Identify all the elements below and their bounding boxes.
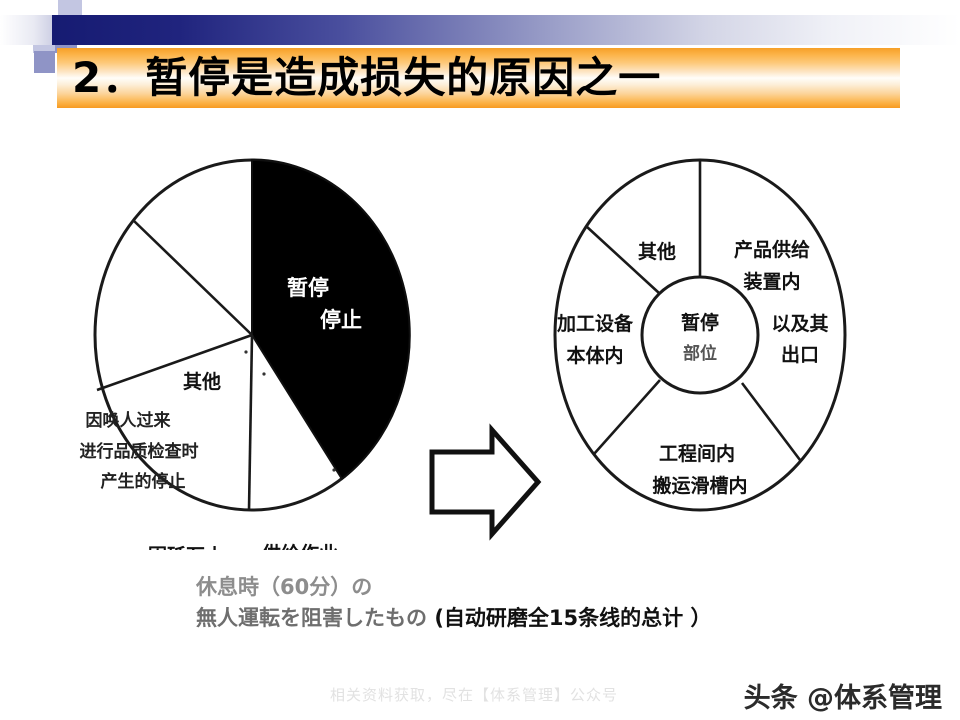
page-title: 2．暂停是造成损失的原因之一 [72, 52, 902, 104]
right-donut-hub [642, 277, 758, 393]
left-pie-label-other: 其他 [183, 370, 221, 393]
svg-text:工程间内: 工程间内 [659, 442, 735, 465]
svg-text:出口: 出口 [781, 343, 819, 366]
svg-text:搬运滑槽内: 搬运滑槽内 [652, 474, 747, 497]
caption-line-2-solid: (自动研磨全15条线的总计 ） [434, 606, 711, 630]
caption-line-1: 休息時（60分）の [196, 575, 372, 599]
svg-text:产品供给: 产品供给 [734, 238, 810, 261]
svg-text:停止: 停止 [320, 308, 362, 332]
svg-text:部位: 部位 [683, 343, 717, 364]
svg-text:暂停: 暂停 [681, 311, 719, 334]
footer-brand: 头条 @体系管理 [744, 676, 942, 715]
topbar-left-fade [0, 15, 56, 45]
topbar-gradient [52, 15, 960, 45]
svg-text:因唤人过来: 因唤人过来 [86, 410, 172, 431]
svg-text:因砥石小: 因砥石小 [148, 545, 224, 550]
left-pie-chart: 其他 因唤人过来 进行品质检查时 产生的停止 因砥石小 造成的停止 供给作业 中… [80, 160, 410, 550]
slide-root: 2．暂停是造成损失的原因之一 [0, 0, 960, 720]
footer-note: 相关资料获取，尽在【体系管理】公众号 [330, 684, 618, 705]
svg-text:装置内: 装置内 [742, 270, 800, 293]
caption-line-2-faded: 無人運転を阻害したもの [196, 606, 427, 630]
svg-text:暂停: 暂停 [287, 276, 329, 300]
svg-text:加工设备: 加工设备 [556, 312, 634, 335]
svg-text:本体内: 本体内 [566, 344, 623, 367]
left-pie-label-grinding-stone: 因砥石小 造成的停止 [138, 545, 233, 550]
right-donut-label-other: 其他 [638, 240, 676, 263]
svg-text:供给作业: 供给作业 [261, 542, 338, 550]
svg-text:产生的停止: 产生的停止 [101, 471, 186, 492]
svg-text:进行品质检查时: 进行品质检查时 [80, 441, 199, 462]
chart-caption: 休息時（60分）の 無人運転を阻害したもの (自动研磨全15条线的总计 ） [196, 572, 816, 642]
right-arrow-icon [432, 430, 538, 534]
diagram-area: 其他 因唤人过来 进行品质检查时 产生的停止 因砥石小 造成的停止 供给作业 中… [0, 130, 960, 550]
square-periwinkle-2-icon [34, 51, 55, 73]
right-donut-chart: 暂停 部位 其他 产品供给 装置内 以及其 出口 加工设备 本体内 工程间内 搬… [555, 160, 845, 510]
left-pie-label-supply-interrupt: 供给作业 中断造成 的停止 [261, 542, 340, 550]
svg-text:以及其: 以及其 [771, 313, 828, 335]
